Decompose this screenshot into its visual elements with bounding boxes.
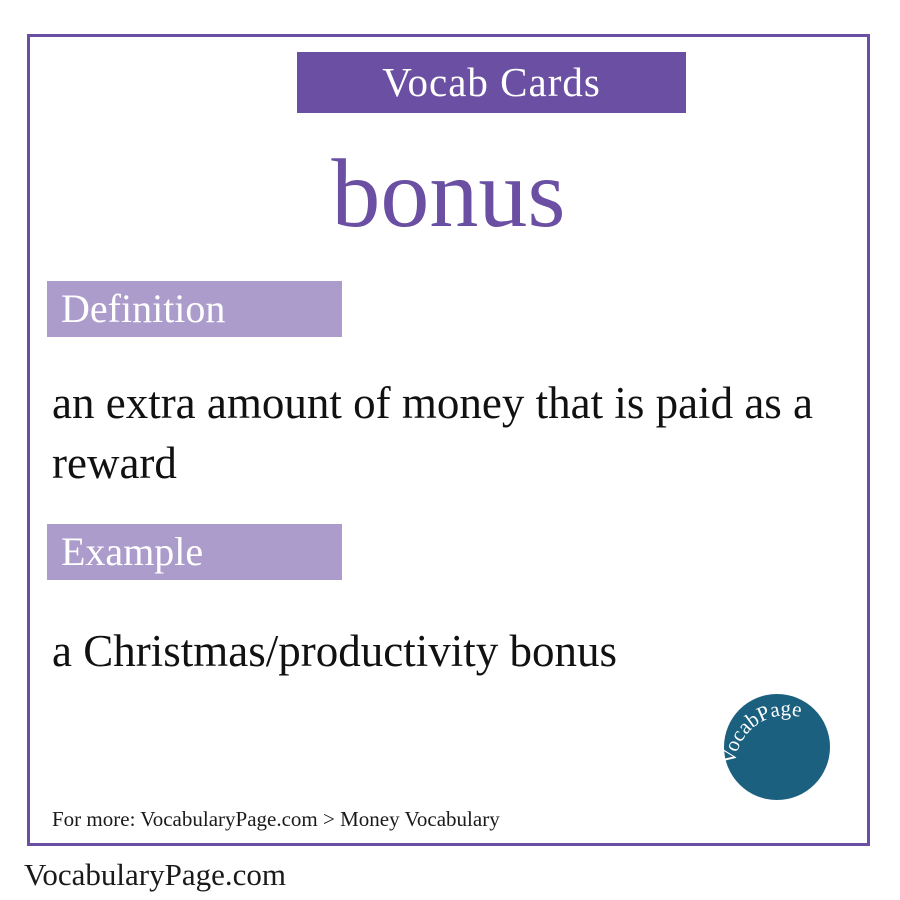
headword: bonus <box>30 145 867 243</box>
bottom-caption: VocabularyPage.com <box>24 857 286 893</box>
section-label-definition-text: Definition <box>61 289 225 329</box>
example-text: a Christmas/productivity bonus <box>52 622 852 682</box>
card-footer-note: For more: VocabularyPage.com > Money Voc… <box>52 807 500 832</box>
section-label-example-text: Example <box>61 532 203 572</box>
section-label-example: Example <box>47 524 342 580</box>
section-label-definition: Definition <box>47 281 342 337</box>
vocabpage-logo-icon: VocabPage <box>722 692 832 802</box>
card-banner-title: Vocab Cards <box>382 62 601 103</box>
definition-text: an extra amount of money that is paid as… <box>52 374 852 494</box>
card-banner: Vocab Cards <box>297 52 686 113</box>
